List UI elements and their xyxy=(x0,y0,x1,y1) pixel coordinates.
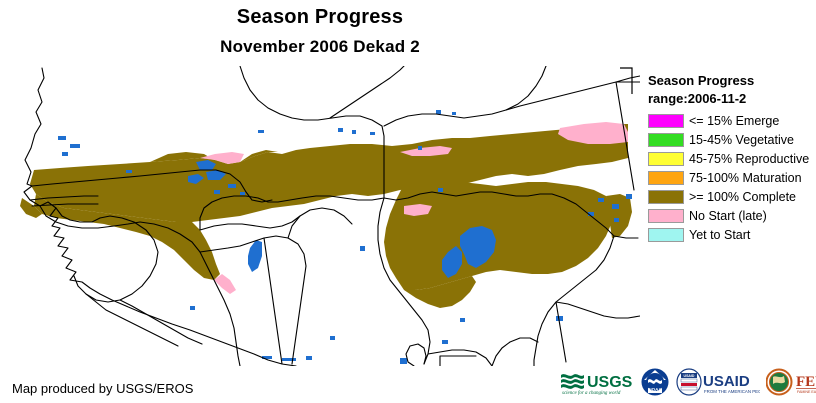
agency-logos: USGS science for a changing world NOAA xyxy=(560,364,812,400)
west-africa-map[interactable] xyxy=(0,66,640,366)
svg-text:FAMINE EARLY WARNING SYSTEMS N: FAMINE EARLY WARNING SYSTEMS NETWORK xyxy=(797,390,816,394)
usaid-logo-icon: USAID USAID FROM THE AMERICAN PEOPLE xyxy=(676,367,760,397)
legend-swatch-reproductive xyxy=(648,152,684,166)
legend-label-emerge: <= 15% Emerge xyxy=(689,114,779,128)
legend-item-yet-to-start[interactable]: Yet to Start xyxy=(648,226,816,244)
niger-lake-3 xyxy=(370,132,375,135)
cameroon-lake-2 xyxy=(442,340,448,344)
legend-label-vegetative: 15-45% Vegetative xyxy=(689,133,794,147)
nigeria-lake-1 xyxy=(360,246,365,251)
legend-label-no-start: No Start (late) xyxy=(689,209,767,223)
fewsnet-logo-icon: FEWS NET FAMINE EARLY WARNING SYSTEMS NE… xyxy=(766,367,816,397)
legend-range: range:2006-11-2 xyxy=(648,90,816,107)
legend-label-reproductive: 45-75% Reproductive xyxy=(689,152,809,166)
legend-label-complete: >= 100% Complete xyxy=(689,190,796,204)
coast-water-5 xyxy=(330,336,335,340)
map-page: Season Progress November 2006 Dekad 2 xyxy=(0,0,816,403)
legend-swatch-emerge xyxy=(648,114,684,128)
niger-lake-6 xyxy=(418,146,422,150)
chad-lake-5 xyxy=(614,218,619,222)
legend-swatch-maturation xyxy=(648,171,684,185)
delta-dot-2 xyxy=(214,190,220,194)
north-water-1 xyxy=(258,130,264,133)
cameroon-lake-1 xyxy=(460,318,465,322)
cameroon-lake-3 xyxy=(400,358,407,364)
noaa-logo[interactable]: NOAA xyxy=(640,365,670,399)
legend-item-no-start[interactable]: No Start (late) xyxy=(648,207,816,225)
senegal-lake-3 xyxy=(62,152,68,156)
usgs-logo-icon: USGS science for a changing world xyxy=(560,367,634,397)
legend-item-complete[interactable]: >= 100% Complete xyxy=(648,188,816,206)
legend-item-vegetative[interactable]: 15-45% Vegetative xyxy=(648,131,816,149)
niger-lake-2 xyxy=(352,130,356,134)
svg-text:USAID: USAID xyxy=(703,373,750,390)
legend-item-reproductive[interactable]: 45-75% Reproductive xyxy=(648,150,816,168)
chad-lake-3 xyxy=(612,204,619,209)
legend-swatch-no-start xyxy=(648,209,684,223)
chad-lake-6 xyxy=(626,194,632,199)
noaa-logo-icon: NOAA xyxy=(640,367,670,397)
senegal-lake-2 xyxy=(70,144,80,148)
niger-lake-7 xyxy=(438,188,443,192)
map-canvas[interactable] xyxy=(0,66,640,366)
page-title: Season Progress xyxy=(0,6,640,29)
svg-text:science for a changing world: science for a changing world xyxy=(562,391,621,396)
svg-text:USAID: USAID xyxy=(684,374,695,378)
legend-label-yet-to-start: Yet to Start xyxy=(689,228,750,242)
legend-swatch-yet-to-start xyxy=(648,228,684,242)
legend-item-maturation[interactable]: 75-100% Maturation xyxy=(648,169,816,187)
svg-text:FROM THE AMERICAN PEOPLE: FROM THE AMERICAN PEOPLE xyxy=(704,389,760,394)
niger-lake-4 xyxy=(436,110,441,114)
legend-item-emerge[interactable]: <= 15% Emerge xyxy=(648,112,816,130)
fewsnet-logo[interactable]: FEWS NET FAMINE EARLY WARNING SYSTEMS NE… xyxy=(766,365,816,399)
chad-lake-2 xyxy=(598,198,604,202)
coast-water-4 xyxy=(306,356,312,360)
svg-text:FEWS NET: FEWS NET xyxy=(796,374,816,390)
legend-panel: Season Progress range:2006-11-2 <= 15% E… xyxy=(648,72,816,245)
usgs-logo[interactable]: USGS science for a changing world xyxy=(560,365,634,399)
coast-water-1 xyxy=(190,306,195,310)
delta-dot-3 xyxy=(240,192,245,195)
legend-title: Season Progress xyxy=(648,72,816,89)
north-water-2 xyxy=(126,170,132,173)
legend-swatch-complete xyxy=(648,190,684,204)
page-subtitle: November 2006 Dekad 2 xyxy=(0,37,640,57)
svg-text:NOAA: NOAA xyxy=(648,387,662,392)
niger-lake-5 xyxy=(452,112,456,115)
usaid-logo[interactable]: USAID USAID FROM THE AMERICAN PEOPLE xyxy=(676,365,760,399)
legend-label-maturation: 75-100% Maturation xyxy=(689,171,802,185)
delta-dot-1 xyxy=(228,184,236,188)
svg-text:USGS: USGS xyxy=(587,374,633,391)
senegal-lake-1 xyxy=(58,136,66,140)
niger-lake-1 xyxy=(338,128,343,132)
legend-swatch-vegetative xyxy=(648,133,684,147)
coast-water-3 xyxy=(282,358,296,361)
map-credit: Map produced by USGS/EROS xyxy=(12,381,193,396)
